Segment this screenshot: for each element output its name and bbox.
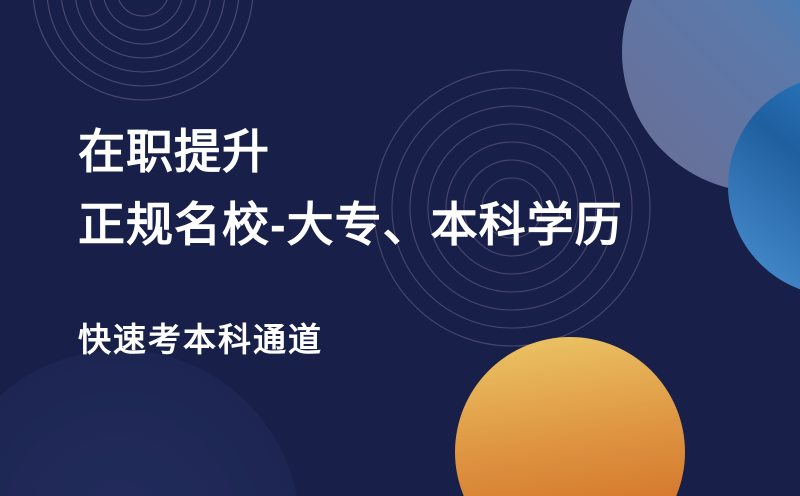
- subline-text: 快速考本科通道: [78, 323, 323, 356]
- banner-content: 在职提升 正规名校-大专、本科学历 快速考本科通道: [0, 0, 800, 496]
- promo-banner: 在职提升 正规名校-大专、本科学历 快速考本科通道: [0, 0, 800, 496]
- headline-line-2: 正规名校-大专、本科学历: [78, 201, 623, 248]
- headline-line-1: 在职提升: [78, 128, 270, 175]
